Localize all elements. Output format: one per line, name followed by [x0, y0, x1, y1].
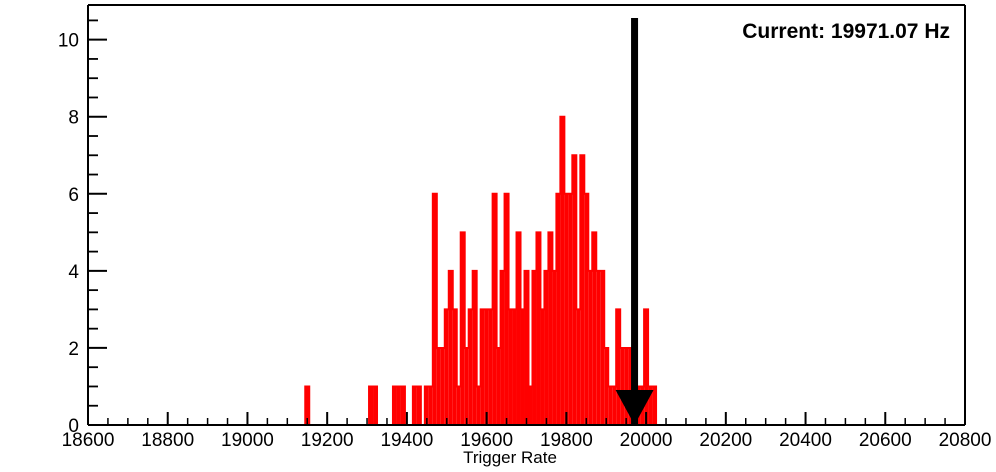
x-tick-label: 18800	[141, 430, 194, 451]
histogram-bin	[612, 386, 616, 425]
x-tick-label: 20400	[779, 430, 832, 451]
x-tick-label: 19400	[380, 430, 433, 451]
histogram-bin	[513, 309, 517, 425]
histogram-bin	[624, 348, 628, 425]
y-tick-label: 8	[68, 108, 79, 129]
histogram-bin	[568, 194, 572, 425]
y-tick-label: 0	[68, 416, 79, 437]
histogram-bin	[540, 309, 544, 425]
x-tick-label: 20000	[620, 430, 673, 451]
histogram-bin	[588, 271, 592, 425]
histogram-bin	[620, 348, 624, 425]
histogram-bin	[564, 194, 568, 425]
histogram-bin	[477, 386, 481, 425]
x-tick-label: 19000	[221, 430, 274, 451]
x-tick-label: 20600	[859, 430, 912, 451]
trigger-rate-histogram: 1860018800190001920019400196001980020000…	[0, 0, 996, 472]
histogram-bin	[457, 386, 461, 425]
root-canvas: 1860018800190001920019400196001980020000…	[0, 0, 996, 472]
histogram-bin	[397, 386, 401, 425]
x-axis-title: Trigger Rate	[463, 448, 557, 467]
histogram-bin	[521, 309, 525, 425]
histogram-bin	[576, 309, 580, 425]
histogram-bin	[489, 309, 493, 425]
histogram-bin	[485, 309, 489, 425]
histogram-bin	[608, 386, 612, 425]
current-value-label: Current: 19971.07 Hz	[742, 20, 950, 43]
histogram-bin	[509, 309, 513, 425]
histogram-bin	[596, 271, 600, 425]
y-tick-label: 10	[58, 31, 79, 52]
histogram-bin	[528, 386, 532, 425]
y-tick-label: 4	[68, 262, 79, 283]
x-tick-label: 19200	[301, 430, 354, 451]
x-tick-label: 20200	[699, 430, 752, 451]
histogram-bin	[465, 348, 469, 425]
histogram-bin	[552, 271, 556, 425]
histogram-bin	[497, 348, 501, 425]
y-tick-label: 2	[68, 339, 79, 360]
histogram-bin	[429, 386, 433, 425]
histogram-bin	[441, 348, 445, 425]
y-tick-label: 6	[68, 185, 79, 206]
histogram-bin	[437, 348, 441, 425]
x-tick-label: 20800	[939, 430, 992, 451]
